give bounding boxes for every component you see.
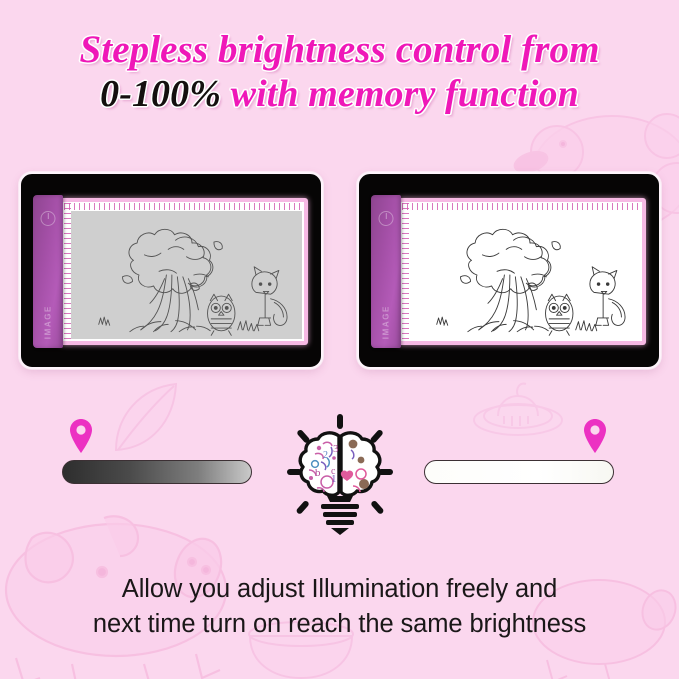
ruler-top-ticks — [64, 203, 303, 210]
svg-text:2: 2 — [323, 450, 328, 461]
brightness-slider-low[interactable] — [62, 460, 252, 484]
light-pad-panel — [397, 198, 646, 345]
brand-label: IMAGE — [44, 305, 53, 339]
caption-line-1: Allow you adjust Illumination freely and — [0, 572, 679, 607]
control-strip[interactable]: IMAGE — [371, 195, 401, 348]
brightness-slider-high[interactable] — [424, 460, 614, 484]
caption-line-2: next time turn on reach the same brightn… — [0, 607, 679, 642]
caption: Allow you adjust Illumination freely and… — [0, 572, 679, 641]
map-pin-icon[interactable] — [68, 418, 94, 454]
drawing-surface-dim — [71, 211, 302, 339]
ruler-top-ticks — [402, 203, 641, 210]
brain-lightbulb-icon: 3 2 c b 1 — [287, 414, 393, 536]
slider-track-light[interactable] — [424, 460, 614, 484]
product-feature-banner: Stepless brightness control from 0-100% … — [0, 0, 679, 679]
control-strip[interactable]: IMAGE — [33, 195, 63, 348]
headline-line-2-pink: with memory function — [231, 73, 579, 115]
light-pad-panel — [59, 198, 308, 345]
svg-text:b: b — [315, 467, 321, 479]
svg-text:3: 3 — [333, 443, 339, 455]
power-icon[interactable] — [41, 211, 56, 226]
headline: Stepless brightness control from 0-100% … — [0, 30, 679, 114]
drawing-surface-bright — [409, 211, 640, 339]
light-pad-device-bright[interactable]: IMAGE — [357, 172, 661, 369]
cupcake-watermark — [468, 376, 568, 438]
light-pad-surface — [63, 202, 304, 341]
slider-track-dark[interactable] — [62, 460, 252, 484]
ruler-left-ticks — [64, 203, 71, 340]
power-icon[interactable] — [379, 211, 394, 226]
brand-label: IMAGE — [382, 305, 391, 339]
headline-line-2: 0-100% with memory function — [0, 75, 679, 114]
light-pad-surface — [401, 202, 642, 341]
ruler-left-ticks — [402, 203, 409, 340]
headline-line-1: Stepless brightness control from — [0, 30, 679, 70]
svg-text:1: 1 — [331, 473, 337, 485]
headline-range-value: 0-100% — [100, 73, 221, 115]
light-pad-device-dim[interactable]: IMAGE — [19, 172, 323, 369]
leaf-watermark — [96, 370, 216, 466]
map-pin-icon[interactable] — [582, 418, 608, 454]
